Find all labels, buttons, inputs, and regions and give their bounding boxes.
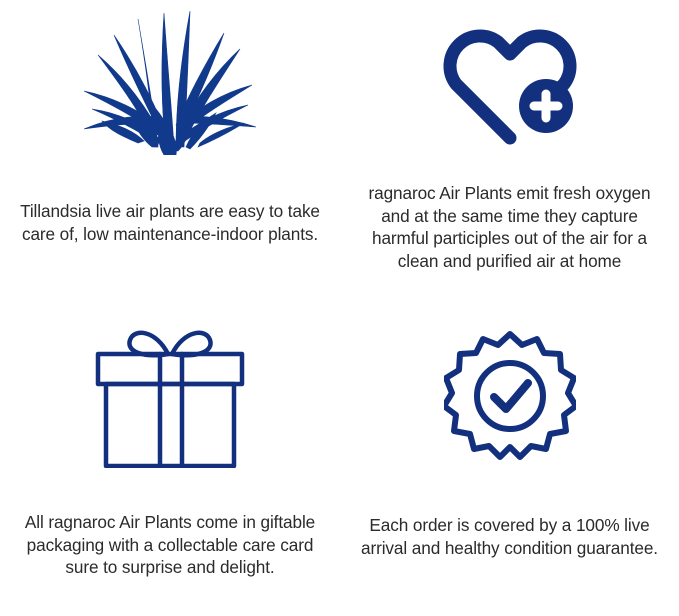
feature-card-air-plant: Tillandsia live air plants are easy to t… bbox=[0, 0, 340, 308]
feature-card-giftable-packaging: All ragnaroc Air Plants come in giftable… bbox=[0, 308, 340, 616]
guarantee-badge-icon bbox=[344, 330, 675, 462]
feature-card-live-arrival-guarantee: Each order is covered by a 100% live arr… bbox=[340, 308, 679, 616]
feature-card-fresh-oxygen: ragnaroc Air Plants emit fresh oxygen an… bbox=[340, 0, 679, 308]
feature-description: All ragnaroc Air Plants come in giftable… bbox=[4, 511, 336, 579]
feature-description: Tillandsia live air plants are easy to t… bbox=[5, 200, 335, 245]
feature-description: Each order is covered by a 100% live arr… bbox=[344, 514, 676, 559]
gift-box-icon bbox=[6, 316, 334, 468]
feature-grid: Tillandsia live air plants are easy to t… bbox=[0, 0, 679, 616]
feature-description: ragnaroc Air Plants emit fresh oxygen an… bbox=[344, 182, 676, 272]
air-plant-icon bbox=[6, 5, 334, 155]
heart-plus-icon bbox=[342, 18, 677, 146]
